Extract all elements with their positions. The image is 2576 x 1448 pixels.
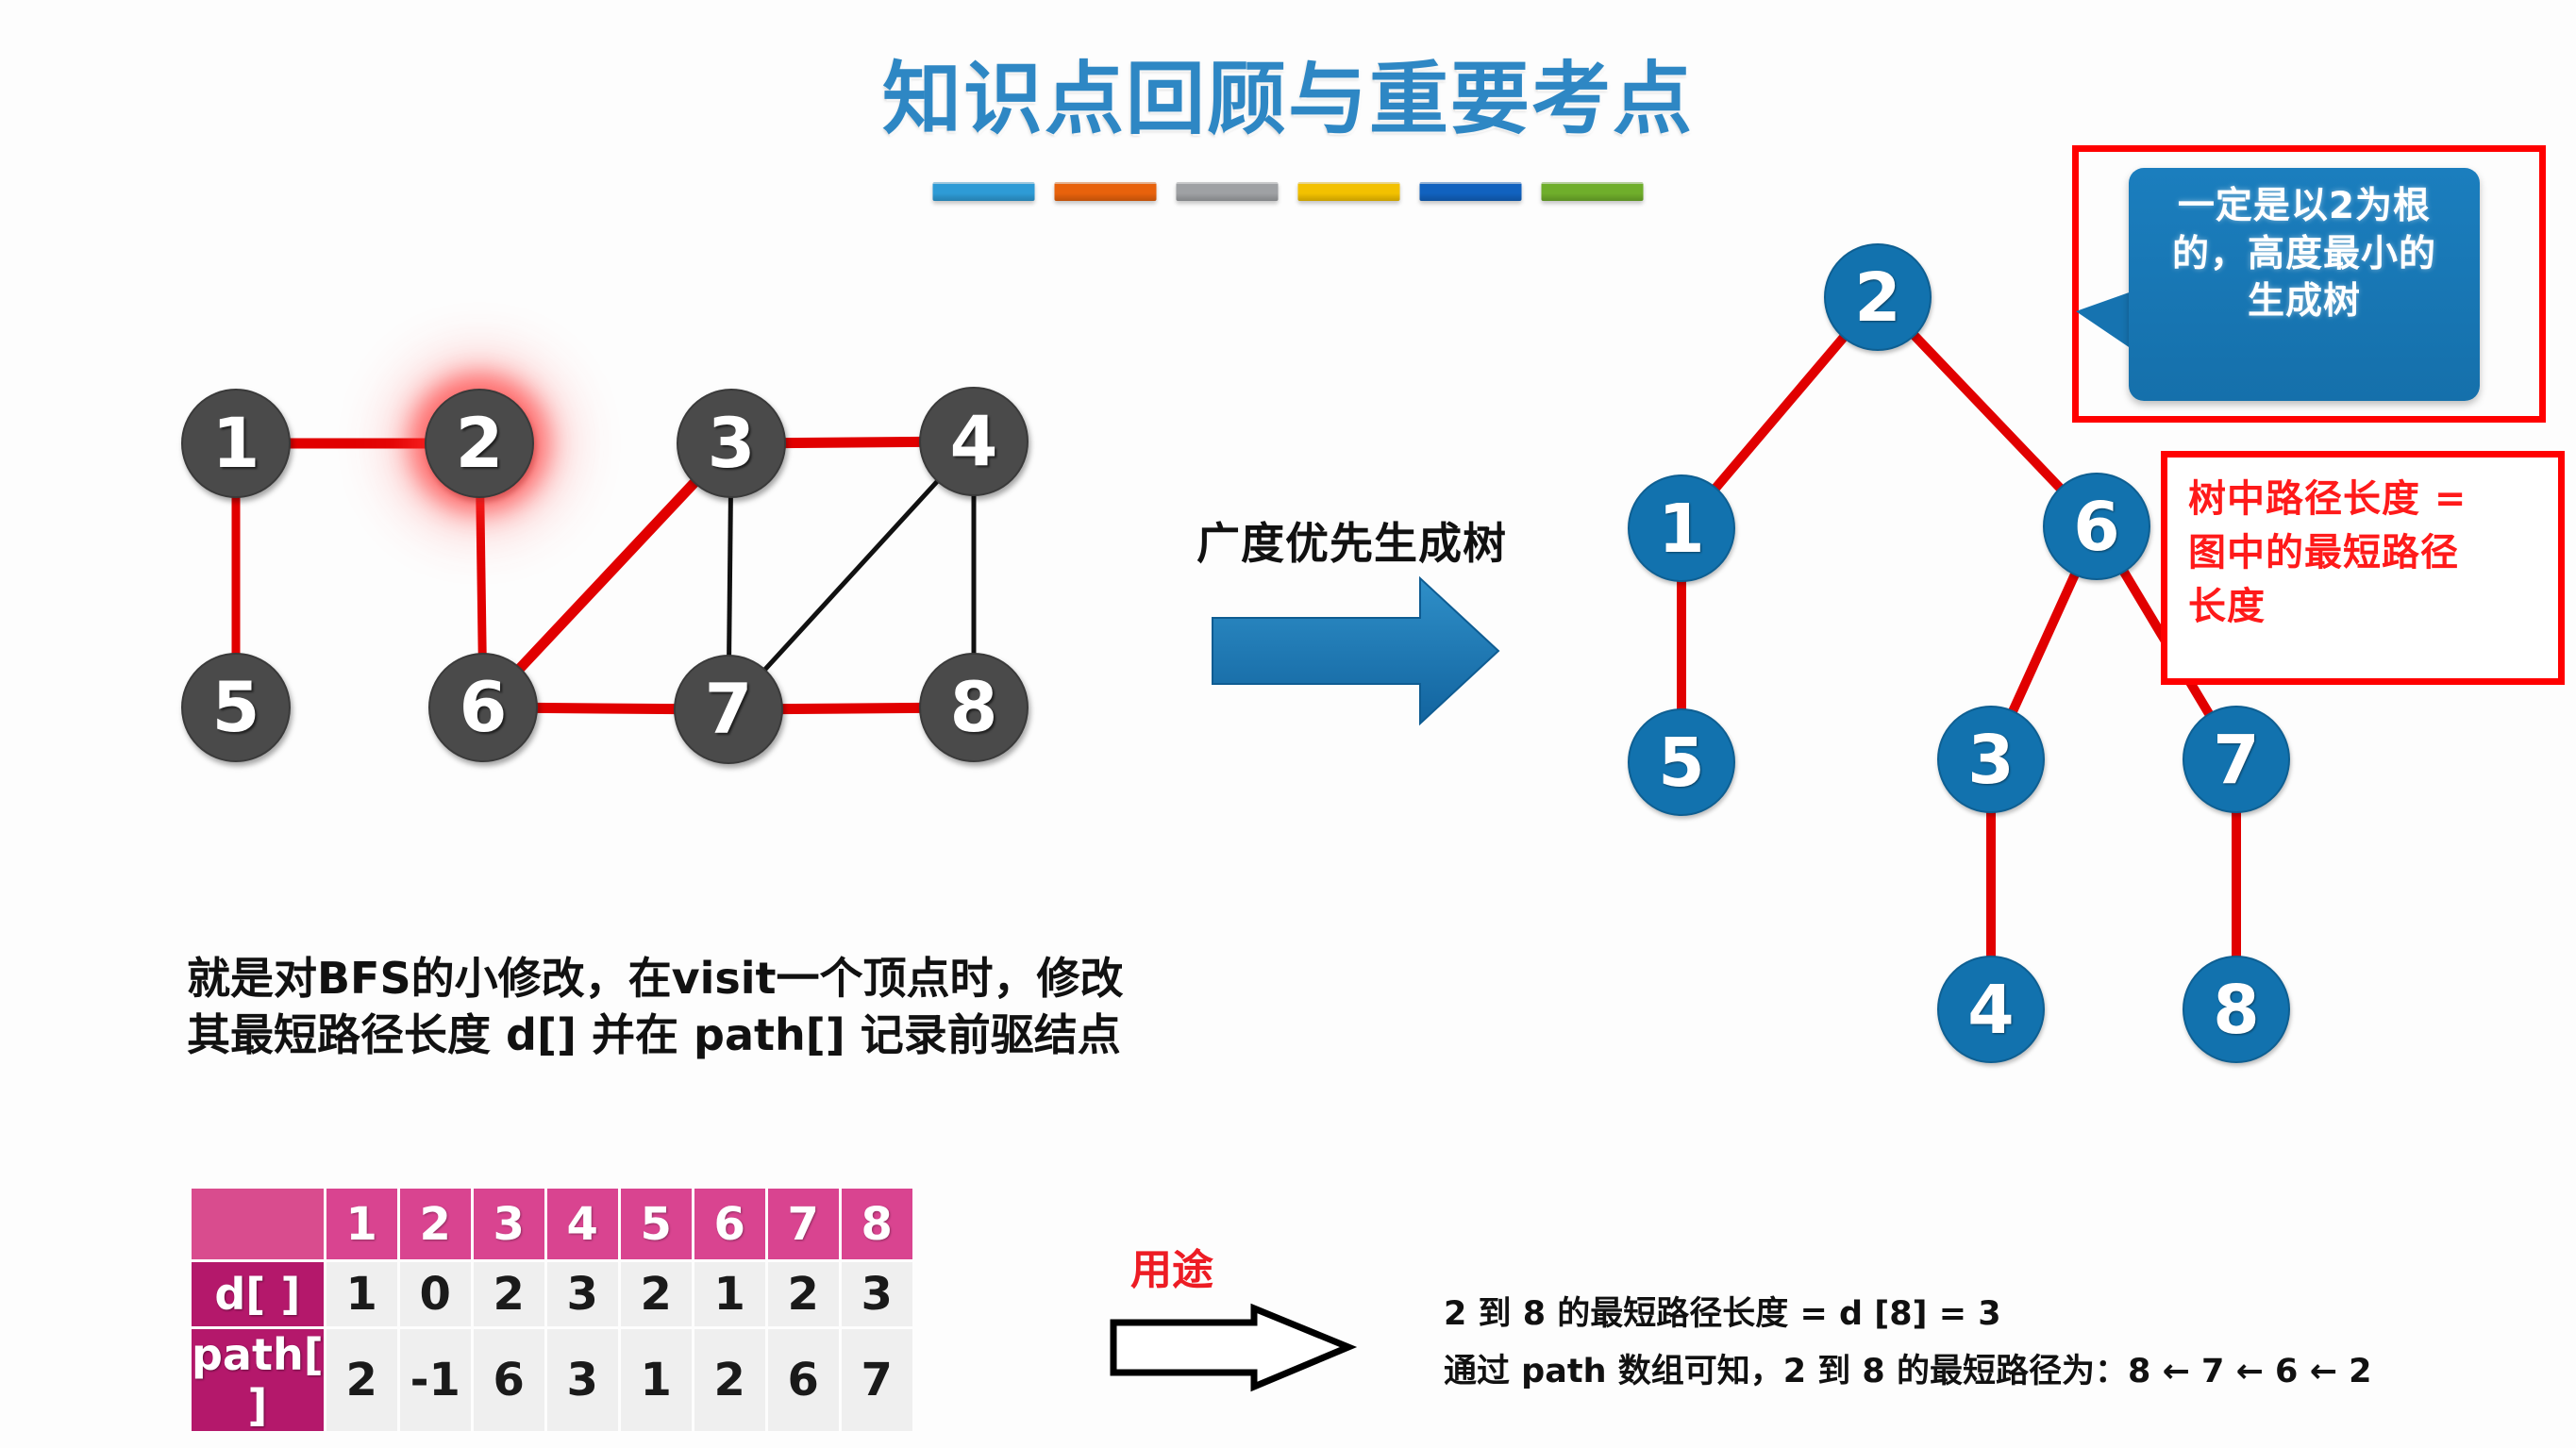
table-header-8: 8 <box>842 1189 912 1259</box>
edge-3-7 <box>729 494 731 658</box>
table-row: d[ ]10232123 <box>192 1262 912 1326</box>
d-path-table: 12345678d[ ]10232123path[ ]2-1631267 <box>189 1186 915 1434</box>
table-cell-r0-c6: 2 <box>768 1262 839 1326</box>
callout-tail-icon <box>2076 291 2134 351</box>
tree-node-5: 5 <box>1628 708 1735 816</box>
table-cell-r1-c5: 2 <box>694 1329 765 1431</box>
table-header-6: 6 <box>694 1189 765 1259</box>
tree-node-4: 4 <box>1937 956 2045 1063</box>
callout-line-3: 生成树 <box>2142 278 2467 326</box>
bar-dark-blue <box>1420 182 1522 201</box>
table-header-2: 2 <box>400 1189 471 1259</box>
usage-result-text: 2 到 8 的最短路径长度 = d [8] = 3 通过 path 数组可知，2… <box>1444 1286 2557 1402</box>
usage-arrow-icon <box>1113 1308 1348 1387</box>
edge-6-7 <box>534 707 677 708</box>
graph-node-8: 8 <box>919 653 1029 762</box>
callout-bubble: 一定是以2为根 的，高度最小的 生成树 <box>2129 168 2480 401</box>
graph-node-2: 2 <box>425 389 534 498</box>
table-cell-r0-c3: 3 <box>547 1262 618 1326</box>
table-cell-r1-c2: 6 <box>474 1329 544 1431</box>
table-row-label-1: path[ ] <box>192 1329 324 1431</box>
edge-3-6 <box>518 480 696 670</box>
table-header-row: 12345678 <box>192 1189 912 1259</box>
usage-line-1: 2 到 8 的最短路径长度 = d [8] = 3 <box>1444 1286 2557 1343</box>
table-cell-r1-c7: 7 <box>842 1329 912 1431</box>
table-cell-r1-c1: -1 <box>400 1329 471 1431</box>
table-corner-cell <box>192 1189 324 1259</box>
tree-node-1: 1 <box>1628 474 1735 582</box>
graph-node-4: 4 <box>919 387 1029 496</box>
edge-4-7 <box>762 479 939 672</box>
table-header-5: 5 <box>621 1189 692 1259</box>
description-line-1: 就是对BFS的小修改，在visit一个顶点时，修改 <box>187 951 1187 1007</box>
graph-node-7: 7 <box>674 655 783 764</box>
table-header-1: 1 <box>326 1189 397 1259</box>
bar-orange <box>1055 182 1157 201</box>
table-row: path[ ]2-1631267 <box>192 1329 912 1431</box>
edge-2-6 <box>480 494 482 657</box>
bar-gray <box>1177 182 1279 201</box>
table-cell-r0-c1: 0 <box>400 1262 471 1326</box>
graph-node-3: 3 <box>677 389 786 498</box>
red-note-line-3: 长度 <box>2188 580 2545 634</box>
table-cell-r1-c6: 6 <box>768 1329 839 1431</box>
callout-line-2: 的，高度最小的 <box>2142 231 2467 279</box>
red-note-line-1: 树中路径长度 = <box>2188 473 2545 526</box>
tree-node-6: 6 <box>2043 473 2150 580</box>
graph-node-5: 5 <box>181 653 291 762</box>
table-header-4: 4 <box>547 1189 618 1259</box>
usage-line-2: 通过 path 数组可知，2 到 8 的最短路径为：8 ← 7 ← 6 ← 2 <box>1444 1343 2557 1401</box>
edge-2-1 <box>1714 335 1845 490</box>
table-header-3: 3 <box>474 1189 544 1259</box>
transform-label: 广度优先生成树 <box>1196 509 1507 572</box>
table-cell-r0-c5: 1 <box>694 1262 765 1326</box>
slide-root: 知识点回顾与重要考点 12345678 广度优先生成树 21653748 一定是… <box>0 0 2576 1448</box>
transform-arrow-icon <box>1213 578 1498 724</box>
page-title: 知识点回顾与重要考点 <box>0 36 2576 150</box>
graph-node-1: 1 <box>181 389 291 498</box>
table-row-label-0: d[ ] <box>192 1262 324 1326</box>
usage-label: 用途 <box>1130 1236 1213 1296</box>
table-cell-r0-c7: 3 <box>842 1262 912 1326</box>
tree-node-8: 8 <box>2183 956 2290 1063</box>
edge-6-3 <box>2012 572 2076 713</box>
table-header-7: 7 <box>768 1189 839 1259</box>
table-cell-r0-c0: 1 <box>326 1262 397 1326</box>
edge-7-8 <box>779 707 923 708</box>
table-cell-r1-c0: 2 <box>326 1329 397 1431</box>
title-accent-bars <box>933 182 1644 201</box>
table-cell-r0-c2: 2 <box>474 1262 544 1326</box>
description-text: 就是对BFS的小修改，在visit一个顶点时，修改 其最短路径长度 d[] 并在… <box>187 951 1187 1064</box>
table-cell-r1-c3: 3 <box>547 1329 618 1431</box>
red-annotation-box: 树中路径长度 = 图中的最短路径 长度 <box>2161 451 2565 685</box>
red-note-line-2: 图中的最短路径 <box>2188 526 2545 580</box>
edge-2-6 <box>1913 333 2063 490</box>
tree-node-7: 7 <box>2183 706 2290 813</box>
table-cell-r0-c4: 2 <box>621 1262 692 1326</box>
bar-green <box>1542 182 1644 201</box>
tree-node-2: 2 <box>1824 243 1932 351</box>
bar-light-blue <box>933 182 1035 201</box>
edge-3-4 <box>782 441 923 442</box>
graph-node-6: 6 <box>428 653 538 762</box>
callout-line-1: 一定是以2为根 <box>2142 183 2467 231</box>
tree-node-3: 3 <box>1937 706 2045 813</box>
table-cell-r1-c4: 1 <box>621 1329 692 1431</box>
bar-yellow <box>1298 182 1400 201</box>
description-line-2: 其最短路径长度 d[] 并在 path[] 记录前驱结点 <box>187 1007 1187 1064</box>
